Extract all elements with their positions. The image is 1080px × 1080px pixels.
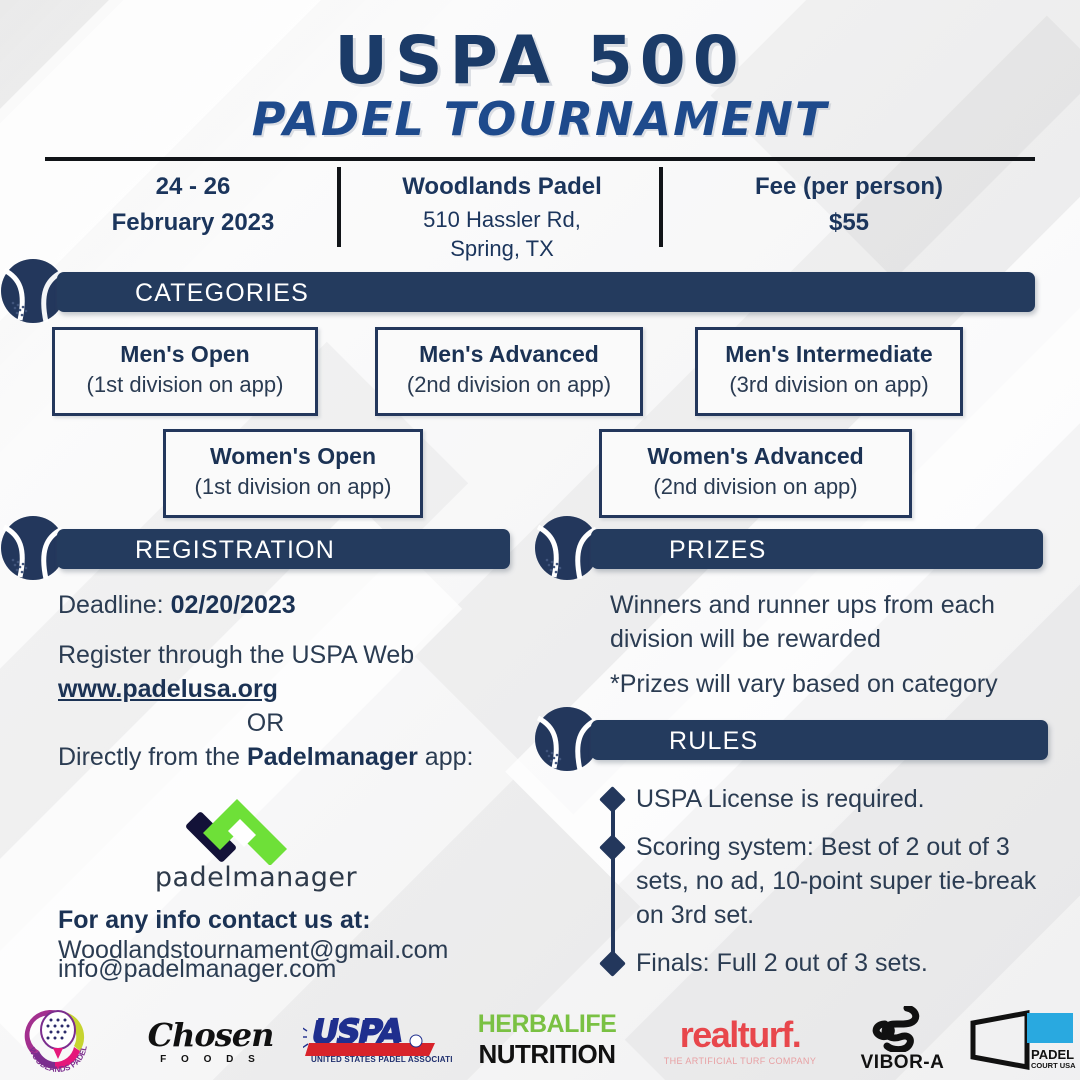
category-division: (3rd division on app) bbox=[698, 371, 960, 398]
padelusa-link[interactable]: www.padelusa.org bbox=[58, 675, 278, 703]
chosen-wordmark: Chosen bbox=[148, 1016, 274, 1054]
sponsor-herbalife: HERBALIFE NUTRITION bbox=[462, 1000, 632, 1080]
rule-item: Finals: Full 2 out of 3 sets. bbox=[600, 946, 1050, 980]
sponsor-chosen-foods: Chosen F O O D S bbox=[128, 1000, 293, 1080]
category-box-mens-intermediate[interactable]: Men's Intermediate (3rd division on app) bbox=[695, 327, 963, 416]
sponsor-vibor-a: VIBOR-A bbox=[845, 1000, 960, 1080]
fee-label: Fee (per person) bbox=[663, 169, 1035, 205]
contact-email-2: info@padelmanager.com bbox=[58, 952, 528, 986]
rule-text: USPA License is required. bbox=[636, 785, 925, 813]
category-name: Men's Open bbox=[55, 341, 315, 368]
diamond-bullet-icon bbox=[599, 834, 626, 861]
prizes-text: Winners and runner ups from each divisio… bbox=[610, 588, 1030, 656]
realturf-subtext: THE ARTIFICIAL TURF COMPANY bbox=[664, 1056, 816, 1066]
rule-item: Scoring system: Best of 2 out of 3 sets,… bbox=[600, 830, 1050, 932]
woodlands-padel-logo-icon: WOODLANDS PADEL bbox=[19, 1003, 97, 1077]
category-name: Men's Intermediate bbox=[698, 341, 960, 368]
prizes-note: *Prizes will vary based on category bbox=[610, 667, 1050, 701]
venue-name: Woodlands Padel bbox=[341, 169, 663, 205]
registration-banner: REGISTRATION bbox=[57, 529, 510, 569]
info-fee: Fee (per person) $55 bbox=[663, 162, 1035, 250]
app-line: Directly from the Padelmanager app: bbox=[58, 740, 508, 774]
herbalife-wordmark: HERBALIFE bbox=[478, 1010, 617, 1039]
svg-text:UNITED STATES PADEL ASSOCIATIO: UNITED STATES PADEL ASSOCIATION bbox=[311, 1055, 453, 1063]
info-venue: Woodlands Padel 510 Hassler Rd, Spring, … bbox=[341, 162, 663, 250]
prizes-line-1: Winners and runner ups from each bbox=[610, 588, 1030, 622]
sponsor-uspa: USPA USPA USPA UNITED STATES PADEL ASSOC… bbox=[295, 1000, 460, 1080]
registration-instructions: Register through the USPA Web www.padelu… bbox=[58, 638, 508, 774]
sponsor-bar: WOODLANDS PADEL Chosen F O O D S USPA US… bbox=[0, 1000, 1080, 1080]
header-divider bbox=[45, 157, 1035, 161]
categories-banner: CATEGORIES bbox=[57, 272, 1035, 312]
fee-value: $55 bbox=[663, 205, 1035, 241]
info-date: 24 - 26 February 2023 bbox=[45, 162, 341, 250]
realturf-wordmark: realturf. bbox=[680, 1014, 801, 1056]
rule-text: Finals: Full 2 out of 3 sets. bbox=[636, 949, 928, 977]
page-subtitle: PADEL TOURNAMENT bbox=[0, 92, 1080, 146]
rule-item: USPA License is required. bbox=[600, 782, 1050, 816]
date-line-1: 24 - 26 bbox=[45, 169, 341, 205]
categories-heading: CATEGORIES bbox=[135, 279, 309, 308]
svg-text:USPA: USPA bbox=[313, 1017, 402, 1050]
registration-heading: REGISTRATION bbox=[135, 536, 335, 565]
category-division: (2nd division on app) bbox=[378, 371, 640, 398]
padel-court-usa-logo-icon: PADEL COURT USA bbox=[969, 1009, 1077, 1071]
prizes-heading: PRIZES bbox=[669, 536, 767, 565]
or-divider: OR bbox=[58, 706, 473, 740]
prizes-banner: PRIZES bbox=[591, 529, 1043, 569]
category-division: (2nd division on app) bbox=[602, 473, 909, 500]
venue-address-2: Spring, TX bbox=[341, 234, 663, 263]
register-web-line: Register through the USPA Web bbox=[58, 638, 508, 672]
category-division: (1st division on app) bbox=[55, 371, 315, 398]
nutrition-wordmark: NUTRITION bbox=[478, 1039, 615, 1070]
category-box-womens-advanced[interactable]: Women's Advanced (2nd division on app) bbox=[599, 429, 912, 518]
app-prefix: Directly from the bbox=[58, 743, 247, 771]
svg-text:PADEL: PADEL bbox=[1031, 1047, 1074, 1062]
vibor-a-snake-icon bbox=[867, 1006, 939, 1052]
sponsor-realturf: realturf. THE ARTIFICIAL TURF COMPANY bbox=[640, 1000, 840, 1080]
uspa-logo-icon: USPA USPA USPA UNITED STATES PADEL ASSOC… bbox=[303, 1017, 453, 1063]
page-title: USPA 500 bbox=[0, 22, 1080, 99]
diamond-bullet-icon bbox=[599, 786, 626, 813]
sponsor-woodlands-padel: WOODLANDS PADEL bbox=[5, 1000, 110, 1080]
diamond-bullet-icon bbox=[599, 950, 626, 977]
vibor-a-wordmark: VIBOR-A bbox=[861, 1052, 945, 1074]
chosen-subtext: F O O D S bbox=[160, 1054, 261, 1065]
padelmanager-wordmark: padelmanager bbox=[146, 862, 366, 893]
sponsor-padel-court-usa: PADEL COURT USA bbox=[965, 1000, 1080, 1080]
contact-heading: For any info contact us at: bbox=[58, 903, 528, 937]
date-line-2: February 2023 bbox=[45, 205, 341, 241]
info-bar: 24 - 26 February 2023 Woodlands Padel 51… bbox=[45, 162, 1035, 250]
app-name: Padelmanager bbox=[247, 743, 418, 771]
venue-address-1: 510 Hassler Rd, bbox=[341, 205, 663, 234]
deadline-label: Deadline: bbox=[58, 591, 171, 619]
rules-banner: RULES bbox=[591, 720, 1048, 760]
svg-text:COURT USA: COURT USA bbox=[1031, 1061, 1076, 1070]
padelmanager-logo-icon bbox=[170, 795, 345, 865]
category-name: Women's Advanced bbox=[602, 443, 909, 470]
category-name: Men's Advanced bbox=[378, 341, 640, 368]
poster-canvas: USPA 500 PADEL TOURNAMENT 24 - 26 Februa… bbox=[0, 0, 1080, 1080]
deadline-value: 02/20/2023 bbox=[171, 591, 296, 619]
app-suffix: app: bbox=[418, 743, 474, 771]
rule-text: Scoring system: Best of 2 out of 3 sets,… bbox=[636, 833, 1036, 929]
category-box-mens-advanced[interactable]: Men's Advanced (2nd division on app) bbox=[375, 327, 643, 416]
category-division: (1st division on app) bbox=[166, 473, 420, 500]
rules-heading: RULES bbox=[669, 727, 758, 756]
registration-deadline: Deadline: 02/20/2023 bbox=[58, 588, 488, 622]
prizes-line-2: division will be rewarded bbox=[610, 622, 1030, 656]
rules-list: USPA License is required. Scoring system… bbox=[600, 782, 1050, 994]
category-box-womens-open[interactable]: Women's Open (1st division on app) bbox=[163, 429, 423, 518]
category-name: Women's Open bbox=[166, 443, 420, 470]
category-box-mens-open[interactable]: Men's Open (1st division on app) bbox=[52, 327, 318, 416]
